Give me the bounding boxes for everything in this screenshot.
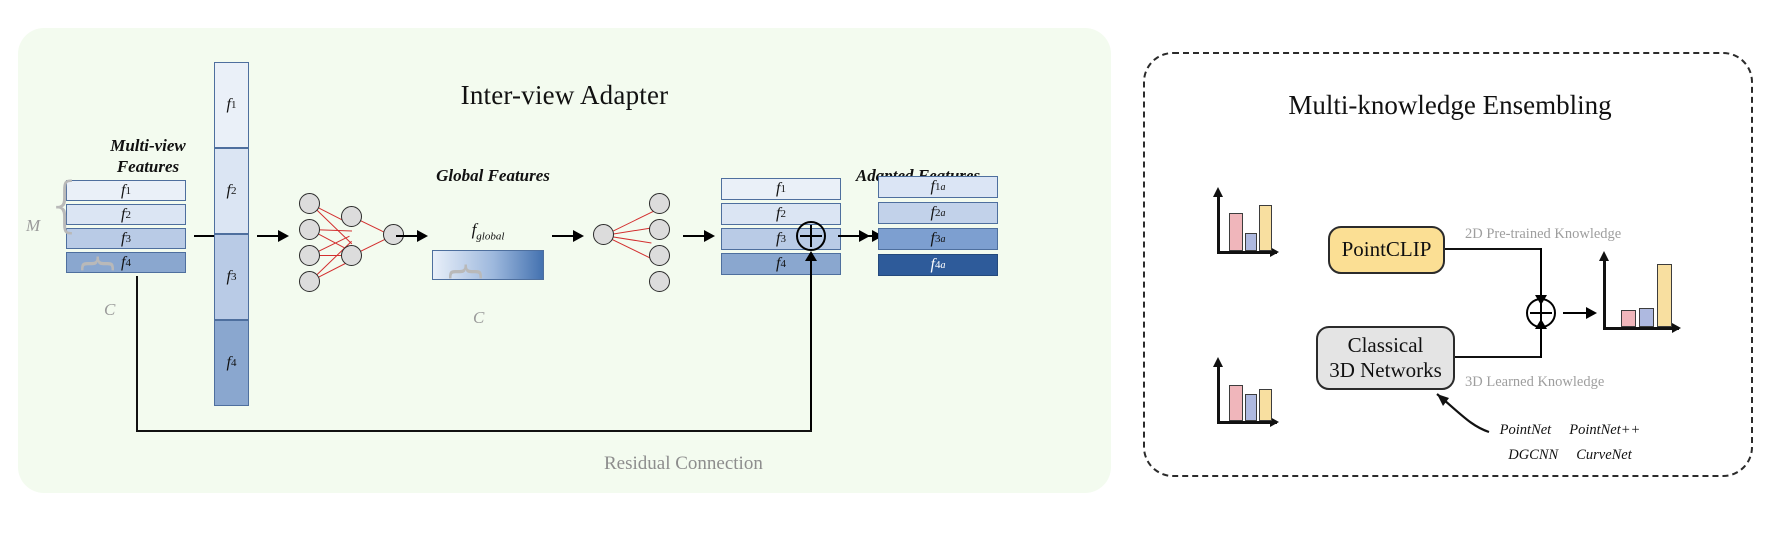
df-sub-2: 2 (780, 208, 786, 220)
classical-label-line1: Classical (1329, 333, 1442, 358)
residual-line-vertical-left (136, 276, 138, 432)
decoded-feature-box: f2 (721, 203, 841, 225)
mlp-node (649, 219, 670, 240)
ensemble-sum-icon (1526, 298, 1556, 328)
adapted-feature-box: f2a (878, 202, 998, 224)
mv-sub-1: 1 (125, 185, 131, 197)
chart-bar (1229, 213, 1243, 251)
af-sup-3: a (940, 234, 945, 245)
concat-feature-segment: f1 (214, 62, 249, 148)
pointclip-input-barchart (1217, 194, 1281, 254)
df-sub-3: 3 (780, 233, 786, 245)
inter-view-adapter-panel: Inter-view Adapter Multi-view Features G… (18, 28, 1111, 493)
network-name-dgcnn: DGCNN (1508, 443, 1558, 468)
c-dimension-label-global: C (473, 308, 484, 328)
ensembled-output-barchart (1603, 258, 1681, 330)
chart-x-axis (1603, 327, 1679, 330)
residual-sum-icon (796, 221, 826, 251)
2d-knowledge-label: 2D Pre-trained Knowledge (1465, 226, 1621, 243)
mv-line1: Multi-view (68, 136, 228, 157)
pointclip-to-sum-line (1445, 248, 1541, 250)
network-name-pointnet: PointNet (1500, 418, 1552, 443)
chart-bar (1245, 233, 1257, 251)
chart-bar (1639, 308, 1654, 327)
decoded-feature-box: f1 (721, 178, 841, 200)
chart-x-axis (1217, 421, 1277, 424)
residual-line-horizontal (136, 430, 812, 432)
chart-x-axis (1217, 251, 1277, 254)
af-sup-2: a (940, 208, 945, 219)
classical-to-sum-line (1455, 356, 1541, 358)
arrow-sum-to-output-chart (1563, 312, 1595, 314)
mv-sub-4: 4 (125, 257, 131, 269)
cc-sub-3: 3 (231, 271, 237, 283)
arrow-encoder-to-global (396, 235, 426, 237)
adapted-feature-box: f1a (878, 176, 998, 198)
mlp-node (299, 245, 320, 266)
pointclip-box[interactable]: PointCLIP (1328, 226, 1445, 274)
multi-knowledge-ensembling-title: Multi-knowledge Ensembling (1145, 90, 1755, 121)
network-list-row2: DGCNNCurveNet (1455, 443, 1685, 468)
pointclip-to-sum-arrow (1540, 248, 1542, 296)
chart-bar (1259, 389, 1272, 421)
cc-sub-1: 1 (231, 99, 237, 111)
classical-to-sum-arrow (1540, 328, 1542, 358)
chart-y-axis (1217, 196, 1220, 254)
cc-sub-2: 2 (231, 185, 237, 197)
df-sub-4: 4 (780, 258, 786, 270)
gf-sym-sub: global (476, 230, 504, 242)
chart-bar (1657, 264, 1672, 327)
arrow-decoder-to-features (683, 235, 713, 237)
c-dimension-label-left: C (104, 300, 115, 320)
chart-bar (1245, 394, 1257, 421)
mlp-node (299, 219, 320, 240)
mlp-node (649, 193, 670, 214)
curved-arrow-head (1437, 394, 1449, 406)
mv-line2: Features (68, 157, 228, 178)
m-dimension-label: M (26, 216, 40, 236)
chart-bar (1229, 385, 1243, 421)
pointclip-label: PointCLIP (1342, 237, 1432, 262)
concat-feature-segment: f4 (214, 320, 249, 406)
mv-sub-3: 3 (125, 233, 131, 245)
mlp-node (299, 193, 320, 214)
arrow-sum-to-adapted (838, 235, 868, 237)
df-sub-1: 1 (780, 183, 786, 195)
arrow-concat-to-encoder (257, 235, 287, 237)
multi-knowledge-ensembling-panel: Multi-knowledge Ensembling PointCLIP Cla… (1143, 52, 1753, 477)
chart-bar (1259, 205, 1272, 251)
mlp-node (341, 245, 362, 266)
concat-feature-segment: f2 (214, 148, 249, 234)
chart-bar (1621, 310, 1636, 327)
inter-view-adapter-title: Inter-view Adapter (18, 80, 1111, 111)
network-name-curvenet: CurveNet (1576, 443, 1632, 468)
mlp-node (341, 206, 362, 227)
mlp-node (593, 224, 614, 245)
global-feature-symbol: fglobal (432, 220, 544, 242)
concat-feature-segment: f3 (214, 234, 249, 320)
adapted-feature-box: f3a (878, 228, 998, 250)
diagram-root: Inter-view Adapter Multi-view Features G… (0, 0, 1766, 550)
chart-y-axis (1603, 260, 1606, 330)
network-list: PointNetPointNet++ DGCNNCurveNet (1455, 418, 1685, 467)
classical3d-input-barchart (1217, 364, 1281, 424)
mlp-node (649, 271, 670, 292)
mlp-node (649, 245, 670, 266)
m-dimension-brace: { (46, 175, 84, 235)
network-list-row1: PointNetPointNet++ (1455, 418, 1685, 443)
multi-view-features-label: Multi-view Features (68, 136, 228, 177)
chart-y-axis (1217, 366, 1220, 424)
adapted-feature-box: f4a (878, 254, 998, 276)
mv-sub-2: 2 (125, 209, 131, 221)
af-sup-4: a (940, 260, 945, 271)
residual-arrow-up (810, 260, 812, 430)
global-features-label: Global Features (393, 166, 593, 187)
af-sup-1: a (940, 182, 945, 193)
network-name-pointnetpp: PointNet++ (1569, 418, 1640, 443)
residual-connection-label: Residual Connection (604, 453, 763, 475)
classical-label-line2: 3D Networks (1329, 358, 1442, 383)
cc-sub-4: 4 (231, 357, 237, 369)
decoded-feature-box: f4 (721, 253, 841, 275)
mlp-node (299, 271, 320, 292)
arrow-global-to-decoder (552, 235, 582, 237)
